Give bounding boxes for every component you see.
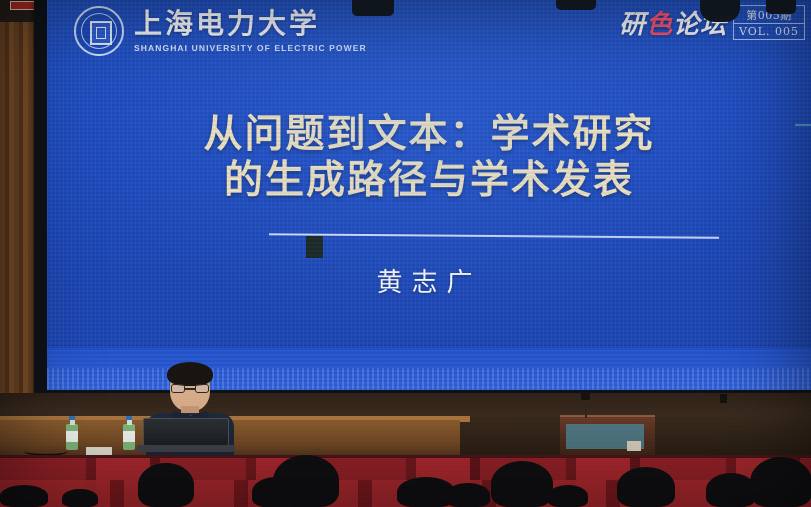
audience-head xyxy=(62,489,98,507)
ceiling-fixture xyxy=(700,0,740,22)
bottle-cap xyxy=(69,416,75,420)
glasses-icon xyxy=(195,384,209,393)
audience-head xyxy=(0,485,48,507)
ceiling-fixture xyxy=(352,0,394,16)
title-divider-line xyxy=(269,233,719,239)
ceiling-fixture xyxy=(556,0,596,10)
university-name-block: 上海电力大学 SHANGHAI UNIVERSITY OF ELECTRIC P… xyxy=(134,10,367,53)
audience-area xyxy=(0,440,811,507)
audience-head xyxy=(750,457,811,507)
audience-head xyxy=(617,467,675,507)
presenter-hair xyxy=(167,362,213,386)
dead-pixel-block xyxy=(306,236,323,258)
bottle-cap xyxy=(126,416,132,420)
audience-head xyxy=(446,483,490,507)
glasses-bridge xyxy=(185,388,195,390)
audience-head xyxy=(138,463,194,507)
audience-head xyxy=(491,461,553,507)
university-seal-icon xyxy=(74,6,124,56)
audience-head xyxy=(273,455,339,507)
ceiling-fixture xyxy=(766,0,796,14)
microphone-head-icon xyxy=(720,394,727,403)
microphone-head-icon xyxy=(581,392,590,400)
audience-head xyxy=(706,473,756,507)
university-branding: 上海电力大学 SHANGHAI UNIVERSITY OF ELECTRIC P… xyxy=(74,6,367,56)
slide-title-line-1: 从问题到文本：学术研究 xyxy=(47,112,811,158)
forum-name-part1: 研 xyxy=(619,10,646,40)
speaker-name: 黄志广 xyxy=(47,262,811,299)
glasses-icon xyxy=(171,384,185,393)
forum-name-accent: 色 xyxy=(646,10,673,40)
led-screen: 上海电力大学 SHANGHAI UNIVERSITY OF ELECTRIC P… xyxy=(47,0,811,390)
slide-title-line-2: 的生成路径与学术发表 xyxy=(47,158,811,204)
university-name-en: SHANGHAI UNIVERSITY OF ELECTRIC POWER xyxy=(134,44,367,53)
university-name-cn: 上海电力大学 xyxy=(134,10,367,38)
lecture-hall-photo: 上海电力大学 SHANGHAI UNIVERSITY OF ELECTRIC P… xyxy=(0,0,811,507)
seal-inner-mark xyxy=(90,21,112,45)
audience-head xyxy=(548,485,588,507)
issue-number-en: VOL. 005 xyxy=(734,24,804,39)
slide-title: 从问题到文本：学术研究 的生成路径与学术发表 xyxy=(47,112,811,204)
screen-artifact-tick xyxy=(795,124,811,126)
